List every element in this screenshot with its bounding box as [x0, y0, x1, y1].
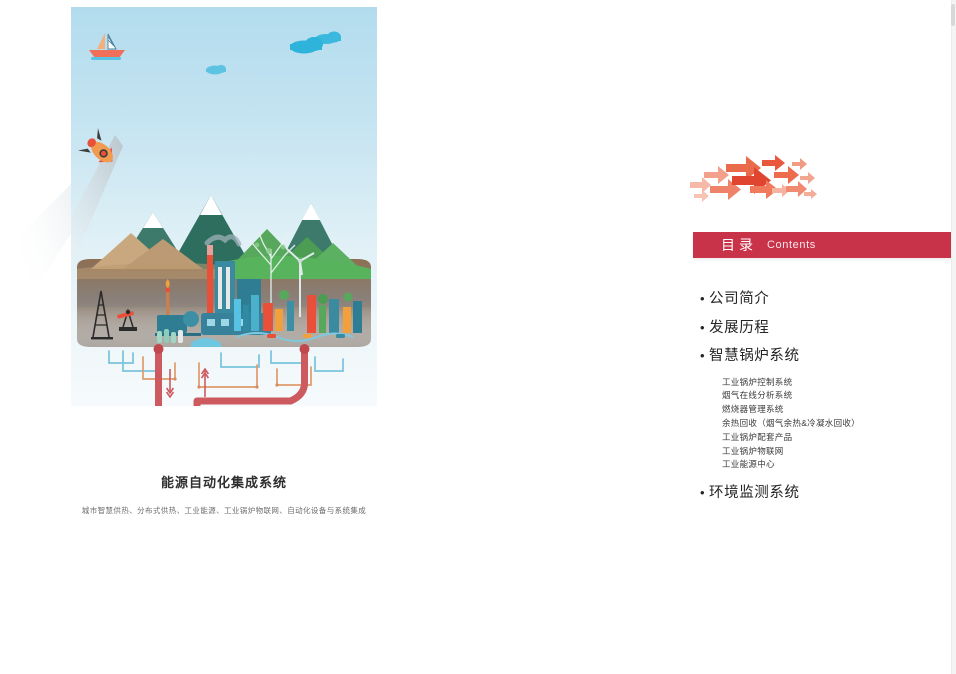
bullet-icon: •	[700, 292, 709, 305]
page-scrollbar[interactable]	[951, 0, 956, 674]
arrow-icon	[690, 177, 711, 193]
arrow-icon	[792, 158, 807, 170]
poster-card: 能源自动化集成系统 城市智慧供热、分布式供热、工业能源、工业锅炉物联网、自动化设…	[71, 7, 377, 520]
arrow-icon	[694, 190, 709, 202]
bullet-icon: •	[700, 349, 709, 362]
toc-item-label: 公司简介	[709, 290, 769, 310]
contents-list: •公司简介•发展历程•智慧锅炉系统工业锅炉控制系统烟气在线分析系统燃烧器管理系统…	[700, 290, 956, 513]
toc-item-label: 环境监测系统	[709, 484, 800, 504]
bullet-icon: •	[700, 321, 709, 334]
slide-page: 能源自动化集成系统 城市智慧供热、分布式供热、工业能源、工业锅炉物联网、自动化设…	[0, 0, 956, 674]
toc-item-label: 智慧锅炉系统	[709, 347, 800, 367]
toc-item-3[interactable]: •智慧锅炉系统	[700, 347, 956, 367]
toc-subitem-group: 工业锅炉控制系统烟气在线分析系统燃烧器管理系统余热回收（烟气余热&冷凝水回收）工…	[722, 376, 956, 472]
arrow-icon	[704, 166, 729, 184]
toc-subitem-6[interactable]: 工业锅炉物联网	[722, 445, 956, 459]
bullet-icon: •	[700, 486, 709, 499]
arrow-icon	[786, 181, 807, 197]
toc-item-4[interactable]: •环境监测系统	[700, 484, 956, 504]
contents-banner: 目录 Contents	[693, 232, 956, 258]
arrow-icon	[800, 172, 815, 184]
contents-title-cn: 目录	[721, 235, 757, 255]
toc-subitem-7[interactable]: 工业能源中心	[722, 458, 956, 472]
arrows-logo	[688, 148, 818, 204]
scrollbar-thumb[interactable]	[951, 4, 955, 26]
toc-subitem-4[interactable]: 余热回收（烟气余热&冷凝水回收）	[722, 417, 956, 431]
toc-subitem-2[interactable]: 烟气在线分析系统	[722, 389, 956, 403]
toc-item-label: 发展历程	[709, 319, 769, 339]
arrow-icon	[762, 155, 785, 171]
toc-item-2[interactable]: •发展历程	[700, 319, 956, 339]
poster-title: 能源自动化集成系统	[71, 472, 377, 491]
toc-subitem-5[interactable]: 工业锅炉配套产品	[722, 431, 956, 445]
arrow-icon	[804, 189, 817, 199]
contents-title-en: Contents	[767, 239, 816, 251]
toc-subitem-3[interactable]: 燃烧器管理系统	[722, 403, 956, 417]
poster-illustration	[71, 7, 377, 406]
poster-subtitle: 城市智慧供热、分布式供热、工业能源、工业锅炉物联网、自动化设备与系统集成	[71, 505, 377, 516]
toc-subitem-1[interactable]: 工业锅炉控制系统	[722, 376, 956, 390]
toc-item-1[interactable]: •公司简介	[700, 290, 956, 310]
contents-pane: 目录 Contents •公司简介•发展历程•智慧锅炉系统工业锅炉控制系统烟气在…	[640, 0, 956, 674]
